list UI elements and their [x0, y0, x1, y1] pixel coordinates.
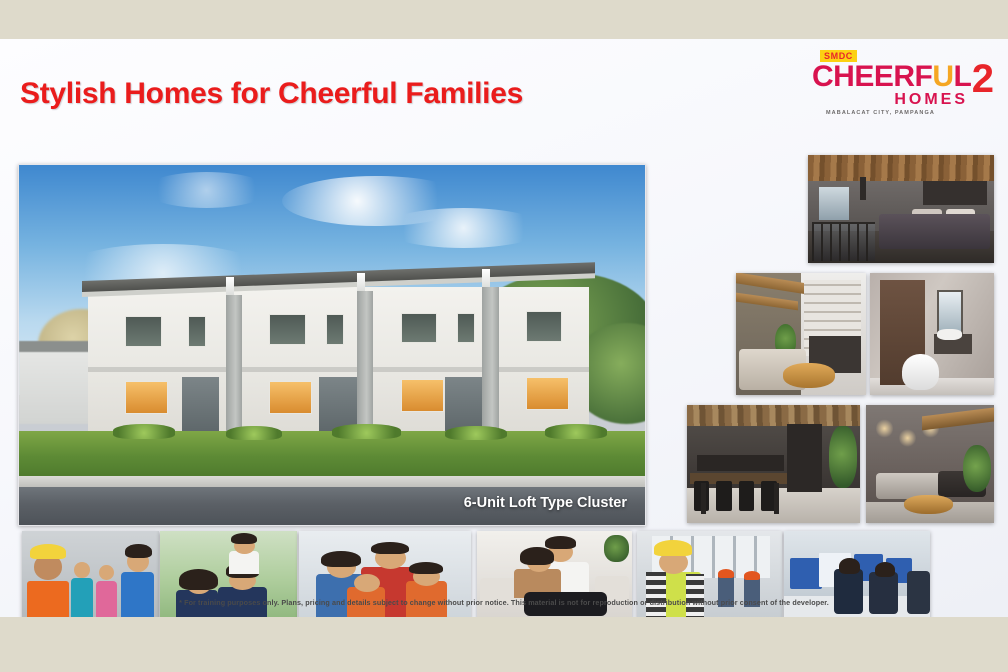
lit-window — [269, 381, 312, 414]
plant — [829, 426, 857, 487]
brand-location: MABALACAT CITY, PAMPANGA — [826, 110, 935, 116]
person — [121, 572, 154, 617]
plaid-shirt — [686, 574, 703, 617]
toilet — [902, 354, 939, 391]
hero-caption: 6-Unit Loft Type Cluster — [464, 495, 627, 511]
brand-wordmark-part2: L — [954, 60, 972, 93]
brand-wordmark-part1: CHEERF — [812, 60, 932, 93]
hair — [179, 569, 217, 591]
screenshot-stage: Stylish Homes for Cheerful Families SMDC… — [0, 0, 1008, 672]
wall-light — [899, 429, 916, 448]
entry-door — [319, 377, 357, 431]
hair — [875, 562, 895, 577]
plant — [604, 535, 629, 562]
hard-hat-icon — [30, 544, 66, 559]
lit-window — [526, 377, 569, 410]
lit-window — [125, 381, 168, 414]
floor-band — [88, 367, 589, 373]
brand-wordmark: CHEERFUL — [812, 61, 971, 93]
hair — [231, 533, 257, 545]
hair — [371, 542, 409, 555]
brand-subtitle: HOMES — [894, 91, 968, 109]
kitchen-counter — [697, 455, 784, 472]
pendant-lamp — [860, 177, 866, 201]
lounge-area-photo — [866, 405, 994, 523]
hard-hat-icon — [744, 571, 760, 580]
hair — [839, 558, 859, 574]
lit-window — [401, 379, 444, 412]
headboard-panel — [923, 181, 986, 205]
shrub — [445, 426, 508, 440]
disclaimer-text: * For training purposes only. Plans, pri… — [0, 598, 1008, 607]
entry-door — [445, 377, 483, 431]
person — [834, 569, 863, 614]
window — [457, 313, 475, 344]
window — [819, 187, 849, 219]
hard-hat-icon — [654, 540, 692, 556]
cloud-icon — [382, 208, 545, 248]
table-leg — [774, 483, 779, 514]
bed — [879, 214, 991, 249]
entry-door — [182, 377, 220, 431]
hair — [409, 562, 443, 575]
living-area-photo — [736, 273, 866, 395]
dining-chair — [739, 481, 755, 512]
brand-wordmark-u: U — [932, 60, 953, 93]
facade-pier — [482, 287, 498, 435]
brand-number: 2 — [972, 59, 994, 99]
dining-area-photo — [687, 405, 860, 523]
brand-logo: SMDC CHEERFUL 2 HOMES MABALACAT CITY, PA… — [812, 50, 994, 122]
plaid-shirt — [646, 572, 666, 617]
dining-chair — [716, 481, 732, 512]
shrub — [226, 426, 282, 440]
window — [401, 313, 437, 344]
person — [869, 572, 898, 613]
hero-exterior-render: 6-Unit Loft Type Cluster — [18, 164, 646, 526]
doorway — [787, 424, 822, 492]
hair — [125, 544, 152, 558]
person — [907, 571, 930, 614]
coffee-table — [783, 363, 835, 387]
hair — [520, 547, 554, 565]
loft-railing — [812, 222, 875, 261]
window — [188, 316, 206, 347]
plant — [963, 445, 991, 492]
hair — [545, 536, 576, 549]
coffee-table — [904, 495, 953, 514]
shrub — [545, 424, 608, 438]
shrub — [113, 424, 176, 438]
lawn — [19, 431, 645, 478]
window — [526, 311, 562, 342]
loft-bedroom-photo — [808, 155, 994, 263]
shrub — [332, 424, 401, 438]
sink — [937, 329, 962, 340]
window — [125, 316, 161, 347]
table-leg — [701, 483, 706, 514]
monitor — [790, 558, 822, 589]
window — [326, 314, 344, 345]
bathroom-photo — [870, 273, 994, 395]
curb — [19, 476, 645, 488]
child — [229, 551, 259, 574]
wall-light — [876, 419, 893, 438]
page-title: Stylish Homes for Cheerful Families — [20, 77, 523, 111]
hair — [321, 551, 361, 567]
presentation-slide: Stylish Homes for Cheerful Families SMDC… — [0, 39, 1008, 617]
facade-pier — [357, 291, 373, 435]
facade-pier — [226, 295, 242, 435]
face — [354, 574, 380, 592]
window — [269, 314, 305, 345]
hard-hat-icon — [718, 569, 734, 578]
